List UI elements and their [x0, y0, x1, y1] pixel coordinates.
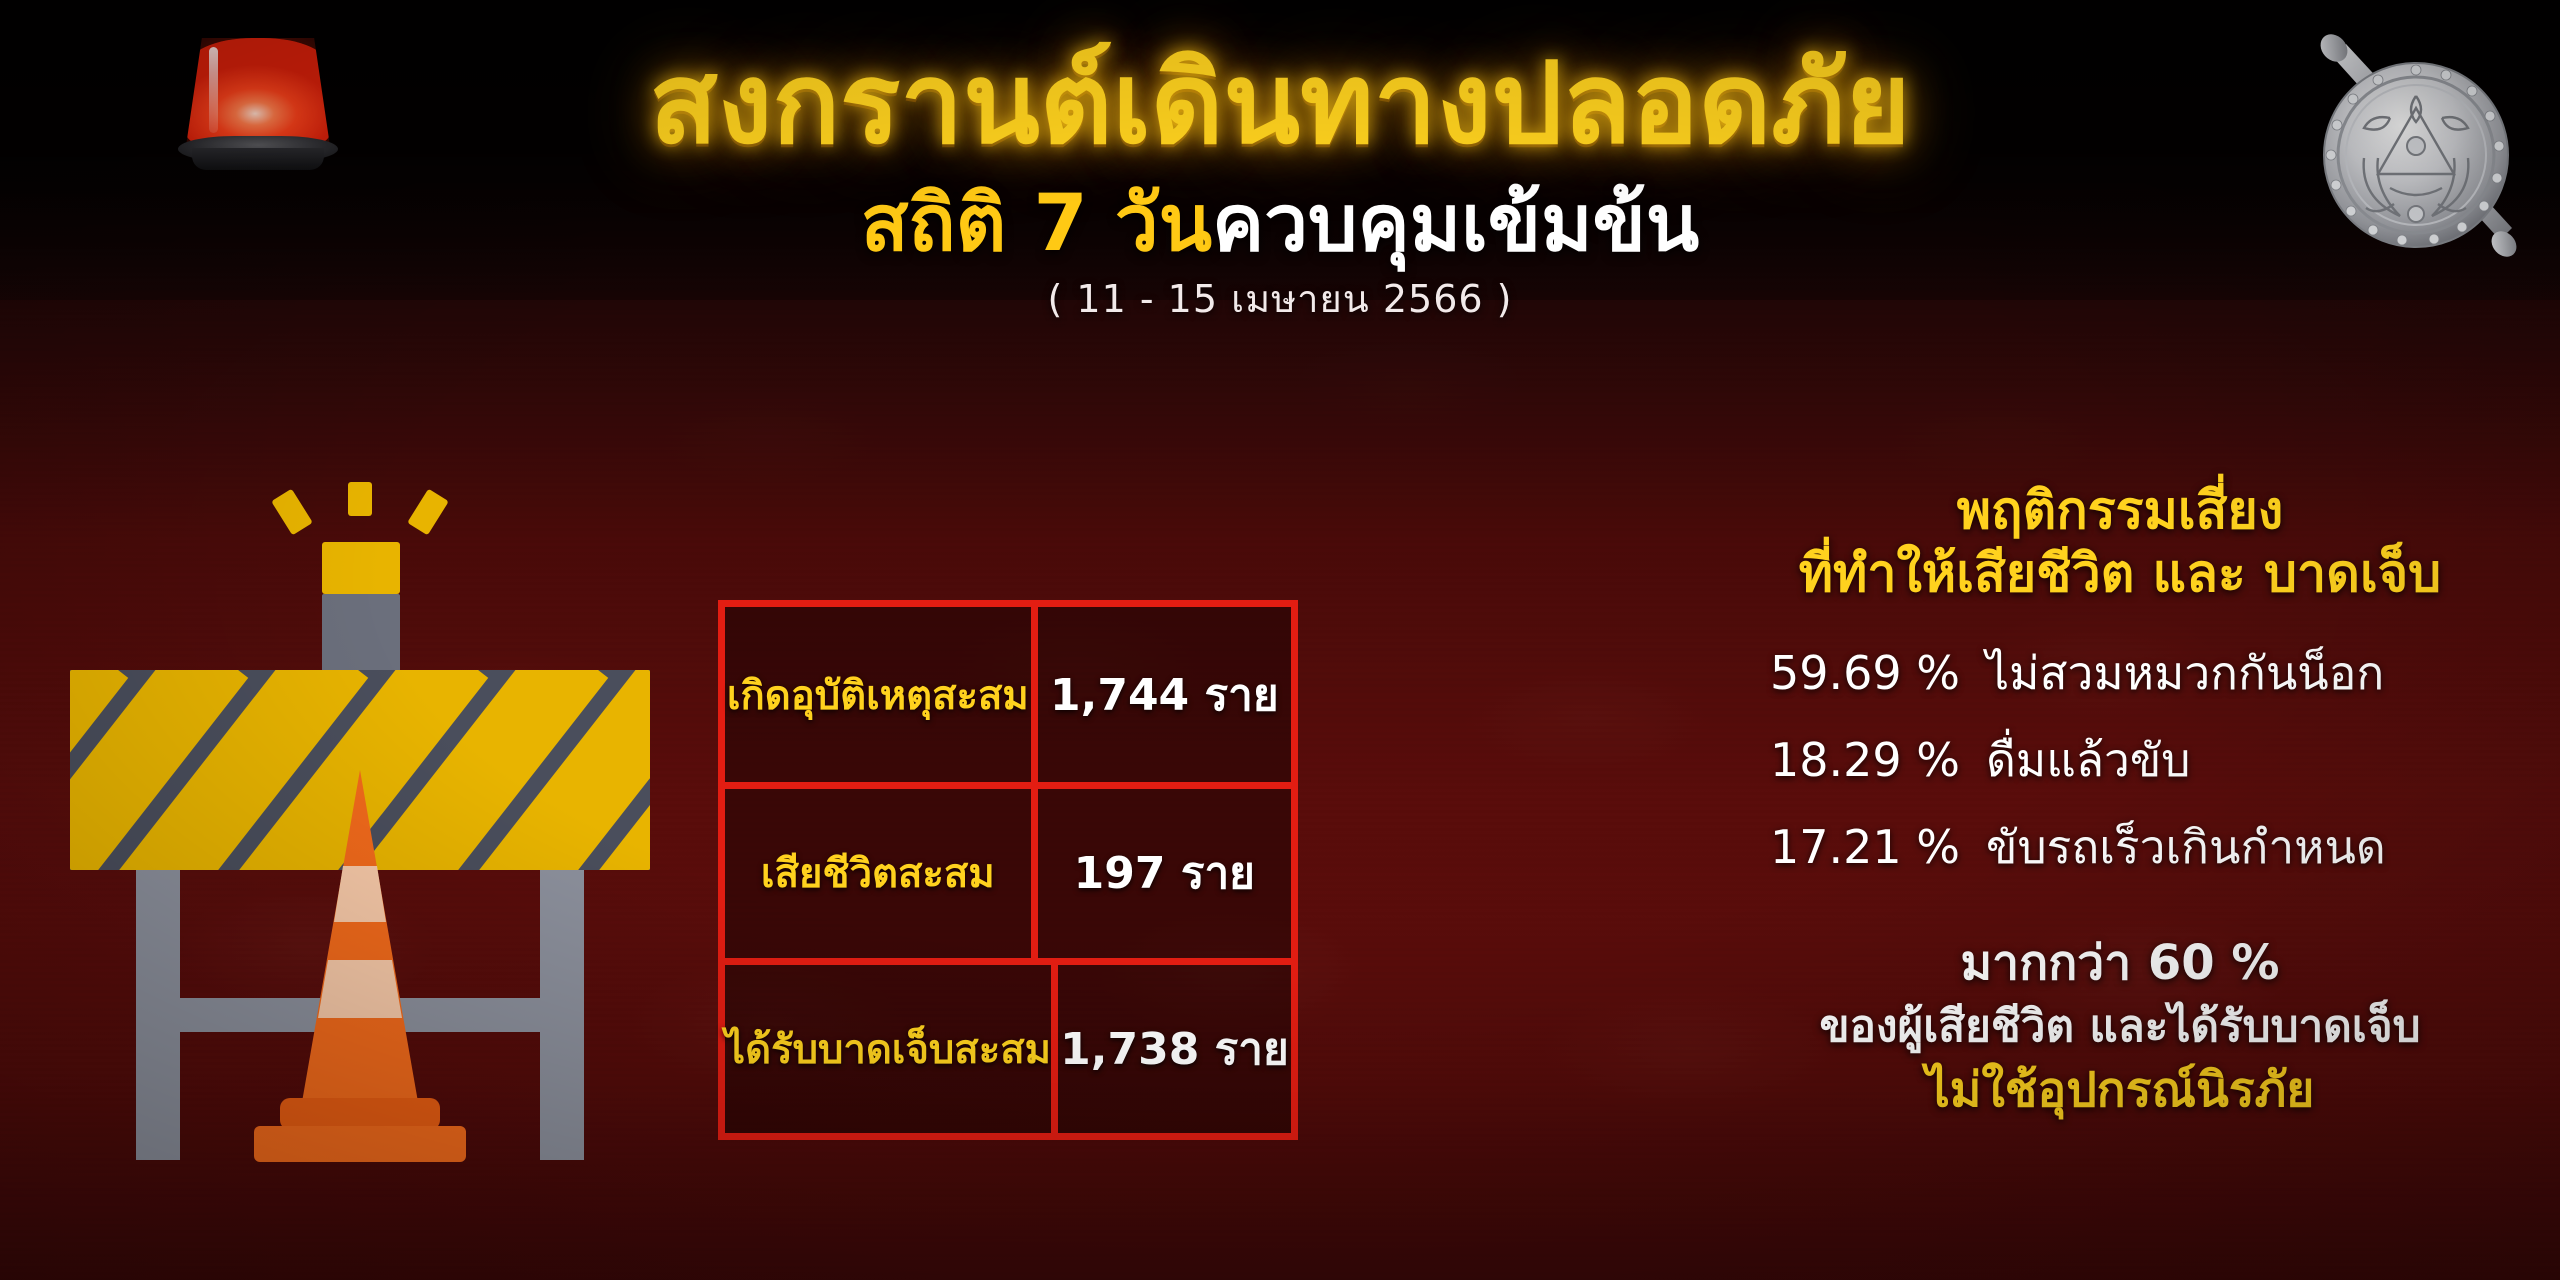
summary-line-1: มากกว่า 60 %	[1690, 932, 2550, 994]
table-cell-label: เสียชีวิตสะสม	[725, 789, 1031, 957]
table-cell-label: เกิดอุบัติเหตุสะสม	[725, 607, 1031, 782]
list-item: 18.29 % ดื่มแล้วขับ	[1730, 724, 2510, 797]
amber-flashing-beacon-icon	[271, 482, 449, 535]
date-range: ( 11 - 15 เมษายน 2566 )	[0, 268, 2560, 329]
summary-line-3: ไม่ใช้อุปกรณ์นิรภัย	[1690, 1059, 2550, 1121]
list-item: 17.21 % ขับรถเร็วเกินกำหนด	[1730, 811, 2510, 884]
risk-panel-heading: พฤติกรรมเสี่ยง ที่ทำให้เสียชีวิต และ บาด…	[1690, 480, 2550, 607]
subtitle: สถิติ 7 วันควบคุมเข้มข้น	[0, 185, 2560, 263]
risk-label: ขับรถเร็วเกินกำหนด	[1986, 811, 2510, 884]
risk-heading-line-1: พฤติกรรมเสี่ยง	[1690, 480, 2550, 543]
stat-value: 1,744 ราย	[1050, 660, 1279, 730]
risk-percent: 18.29 %	[1730, 733, 1960, 787]
table-row: ได้รับบาดเจ็บสะสม 1,738 ราย	[725, 958, 1291, 1133]
statistics-table: เกิดอุบัติเหตุสะสม 1,744 ราย เสียชีวิตสะ…	[718, 600, 1298, 1140]
risk-label: ไม่สวมหมวกกันน็อก	[1986, 637, 2510, 710]
risk-behaviour-panel: พฤติกรรมเสี่ยง ที่ทำให้เสียชีวิต และ บาด…	[1690, 480, 2550, 1220]
subtitle-plain: ควบคุมเข้มข้น	[1212, 179, 1699, 269]
table-cell-value: 1,744 ราย	[1031, 607, 1291, 782]
header: สงกรานต์เดินทางปลอดภัย	[0, 0, 2560, 300]
risk-list: 59.69 % ไม่สวมหมวกกันน็อก 18.29 % ดื่มแล…	[1690, 637, 2550, 884]
list-item: 59.69 % ไม่สวมหมวกกันน็อก	[1730, 637, 2510, 710]
risk-percent: 17.21 %	[1730, 820, 1960, 874]
risk-label: ดื่มแล้วขับ	[1986, 724, 2510, 797]
stat-value: 197 ราย	[1074, 838, 1255, 908]
risk-summary: มากกว่า 60 % ของผู้เสียชีวิต และได้รับบา…	[1690, 932, 2550, 1122]
risk-heading-line-2: ที่ทำให้เสียชีวิต และ บาดเจ็บ	[1690, 543, 2550, 606]
subtitle-highlight: สถิติ 7 วัน	[861, 179, 1212, 269]
table-cell-value: 197 ราย	[1031, 789, 1291, 957]
page-title: สงกรานต์เดินทางปลอดภัย	[0, 48, 2560, 160]
summary-line-2: ของผู้เสียชีวิต และได้รับบาดเจ็บ	[1690, 998, 2550, 1055]
table-row: เสียชีวิตสะสม 197 ราย	[725, 782, 1291, 957]
table-row: เกิดอุบัติเหตุสะสม 1,744 ราย	[725, 607, 1291, 782]
stat-value: 1,738 ราย	[1060, 1014, 1289, 1084]
table-cell-value: 1,738 ราย	[1051, 965, 1291, 1133]
risk-percent: 59.69 %	[1730, 646, 1960, 700]
stat-label: เสียชีวิตสะสม	[761, 841, 995, 905]
road-barricade-illustration	[40, 470, 680, 1190]
stat-label: เกิดอุบัติเหตุสะสม	[727, 663, 1029, 727]
infographic-poster: สงกรานต์เดินทางปลอดภัย	[0, 0, 2560, 1280]
stat-label: ได้รับบาดเจ็บสะสม	[725, 1017, 1051, 1081]
table-cell-label: ได้รับบาดเจ็บสะสม	[725, 965, 1051, 1133]
